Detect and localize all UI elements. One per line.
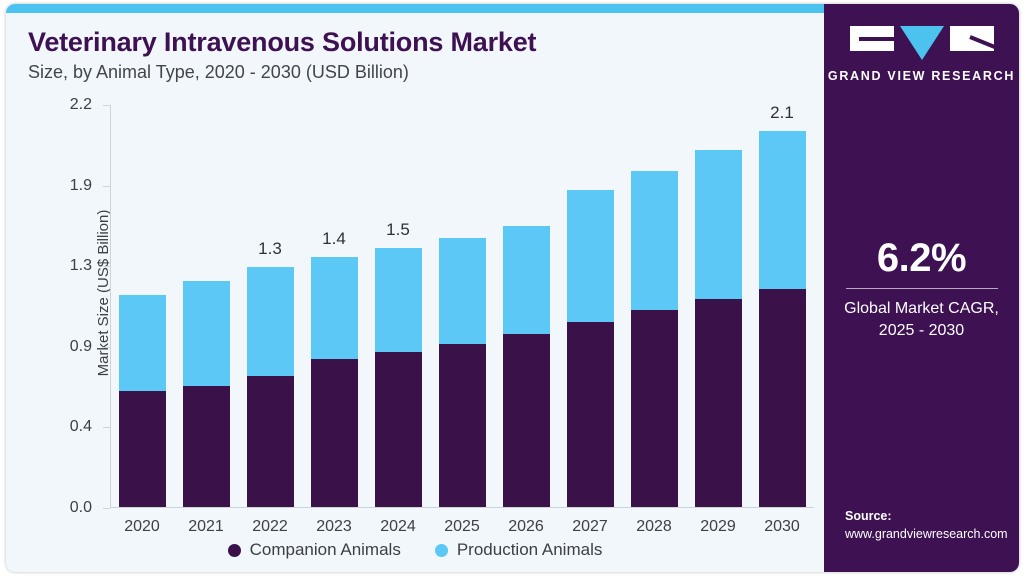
chart-legend: Companion Animals Production Animals (6, 540, 824, 560)
y-axis-tick-label: 1.9 (70, 177, 92, 195)
y-axis-tick (103, 347, 110, 348)
bar-segment-companion-animals (631, 310, 678, 507)
x-axis-tick-label: 2026 (508, 509, 544, 536)
logo-marks (824, 26, 1019, 60)
x-axis-tick-label: 2030 (764, 509, 800, 536)
x-axis-tick-label: 2020 (124, 509, 160, 536)
y-axis-tick (103, 427, 110, 428)
bar-segment-companion-animals (567, 322, 614, 507)
legend-swatch-icon (228, 544, 241, 557)
bar-stack (247, 267, 294, 507)
plot-area: 0.00.40.91.31.92.2202020211.320221.42023… (110, 105, 814, 508)
bar-segment-companion-animals (503, 334, 550, 507)
bar-segment-production-animals (311, 257, 358, 359)
x-axis-tick-label: 2025 (444, 509, 480, 536)
bar-stack (759, 131, 806, 507)
bar-stack (375, 248, 422, 507)
bar-stack (695, 150, 742, 507)
source-label: Source: (845, 507, 1008, 526)
y-axis-tick-label: 0.4 (70, 418, 92, 436)
x-axis-tick-label: 2028 (636, 509, 672, 536)
bar-value-label: 2.1 (770, 103, 794, 123)
legend-label: Production Animals (457, 540, 603, 560)
bar-segment-companion-animals (311, 359, 358, 507)
bar-segment-production-animals (439, 238, 486, 343)
bar-segment-companion-animals (439, 344, 486, 507)
y-axis-tick-label: 0.9 (70, 338, 92, 356)
y-axis-tick (103, 186, 110, 187)
source-url: www.grandviewresearch.com (845, 525, 1008, 544)
logo-wordmark: GRAND VIEW RESEARCH (824, 69, 1019, 83)
y-axis-tick-label: 0.0 (70, 499, 92, 517)
chart-region: Veterinary Intravenous Solutions Market … (6, 13, 824, 572)
y-axis-line (110, 105, 111, 508)
y-axis-tick (103, 105, 110, 106)
x-axis-tick-label: 2023 (316, 509, 352, 536)
bar-segment-companion-animals (375, 352, 422, 507)
logo-r-icon (950, 26, 994, 51)
x-axis-line (110, 507, 814, 508)
bar-stack (439, 238, 486, 507)
logo-g-icon (850, 26, 894, 51)
bar-segment-production-animals (759, 131, 806, 290)
legend-item-companion-animals: Companion Animals (228, 540, 401, 560)
cagr-caption: Global Market CAGR, 2025 - 2030 (824, 298, 1019, 341)
bar-stack (119, 295, 166, 507)
bar-stack (183, 281, 230, 507)
bar-segment-production-animals (119, 295, 166, 391)
bar-segment-production-animals (183, 281, 230, 386)
bar-segment-companion-animals (247, 376, 294, 507)
cagr-block: 6.2% Global Market CAGR, 2025 - 2030 (824, 236, 1019, 341)
cagr-divider (846, 288, 998, 289)
bar-segment-production-animals (503, 226, 550, 333)
y-axis-tick-label: 2.2 (70, 96, 92, 114)
chart-title: Veterinary Intravenous Solutions Market (28, 27, 536, 58)
bar-segment-companion-animals (759, 289, 806, 507)
source-block: Source: www.grandviewresearch.com (845, 507, 1008, 545)
x-axis-tick-label: 2029 (700, 509, 736, 536)
bar-stack (631, 171, 678, 507)
bar-segment-companion-animals (695, 299, 742, 507)
y-axis-tick-label: 1.3 (70, 257, 92, 275)
bar-stack (567, 190, 614, 507)
cagr-caption-line-1: Global Market CAGR, (824, 298, 1019, 320)
bar-segment-companion-animals (119, 391, 166, 507)
bar-segment-production-animals (695, 150, 742, 300)
report-card: Veterinary Intravenous Solutions Market … (6, 4, 1019, 572)
bar-value-label: 1.5 (386, 220, 410, 240)
bar-value-label: 1.3 (258, 239, 282, 259)
bar-segment-production-animals (631, 171, 678, 309)
y-axis-tick (103, 266, 110, 267)
cagr-caption-line-2: 2025 - 2030 (824, 320, 1019, 342)
x-axis-tick-label: 2024 (380, 509, 416, 536)
brand-logo: GRAND VIEW RESEARCH (824, 26, 1019, 83)
brand-side-panel: GRAND VIEW RESEARCH 6.2% Global Market C… (824, 4, 1019, 572)
legend-label: Companion Animals (250, 540, 401, 560)
x-axis-tick-label: 2021 (188, 509, 224, 536)
bar-value-label: 1.4 (322, 229, 346, 249)
chart-screenshot: Veterinary Intravenous Solutions Market … (0, 0, 1025, 576)
logo-v-icon (900, 26, 944, 60)
bar-segment-production-animals (567, 190, 614, 322)
bar-segment-production-animals (375, 248, 422, 353)
bar-stack (503, 226, 550, 507)
x-axis-tick-label: 2027 (572, 509, 608, 536)
bar-segment-production-animals (247, 267, 294, 376)
cagr-value: 6.2% (824, 236, 1019, 281)
bar-segment-companion-animals (183, 386, 230, 507)
chart-subtitle: Size, by Animal Type, 2020 - 2030 (USD B… (28, 62, 409, 83)
bar-stack (311, 257, 358, 507)
legend-item-production-animals: Production Animals (435, 540, 603, 560)
x-axis-tick-label: 2022 (252, 509, 288, 536)
y-axis-tick (103, 508, 110, 509)
legend-swatch-icon (435, 544, 448, 557)
